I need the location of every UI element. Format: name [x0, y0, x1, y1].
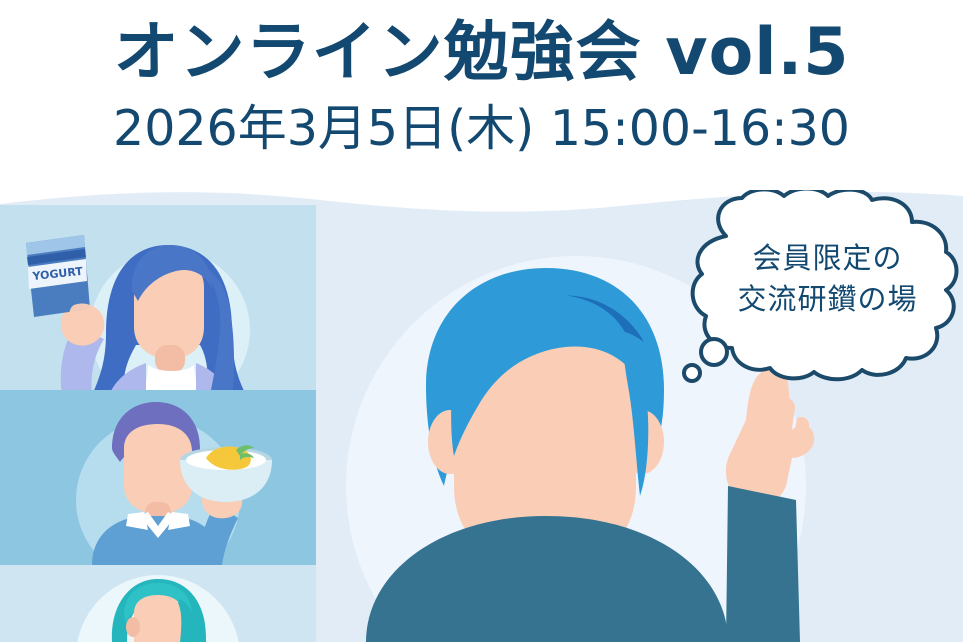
participant-tile-2[interactable] — [0, 390, 316, 565]
poster-root: YOGURT — [0, 0, 963, 642]
participant-tile-3[interactable] — [0, 565, 316, 642]
tile-2-illustration — [0, 390, 316, 565]
thought-bubble-dot-large — [701, 339, 727, 365]
thought-bubble-body — [693, 190, 957, 379]
page-title: オンライン勉強会 vol.5 — [0, 20, 963, 85]
tile-1-illustration: YOGURT — [0, 205, 316, 390]
tile-3-illustration — [0, 565, 316, 642]
tile-1-neck — [155, 345, 185, 373]
participant-tile-1[interactable]: YOGURT — [0, 205, 316, 390]
tile-3-ear — [126, 617, 140, 637]
main-figure-sleeve — [726, 486, 800, 642]
tile-3-face — [134, 595, 184, 642]
thought-bubble-dot-small — [684, 365, 700, 381]
event-datetime: 2026年3月5日(木) 15:00-16:30 — [0, 104, 963, 153]
poster-header: オンライン勉強会 vol.5 2026年3月5日(木) 15:00-16:30 — [0, 0, 963, 200]
thought-bubble — [660, 190, 963, 390]
participant-tiles: YOGURT — [0, 205, 316, 642]
